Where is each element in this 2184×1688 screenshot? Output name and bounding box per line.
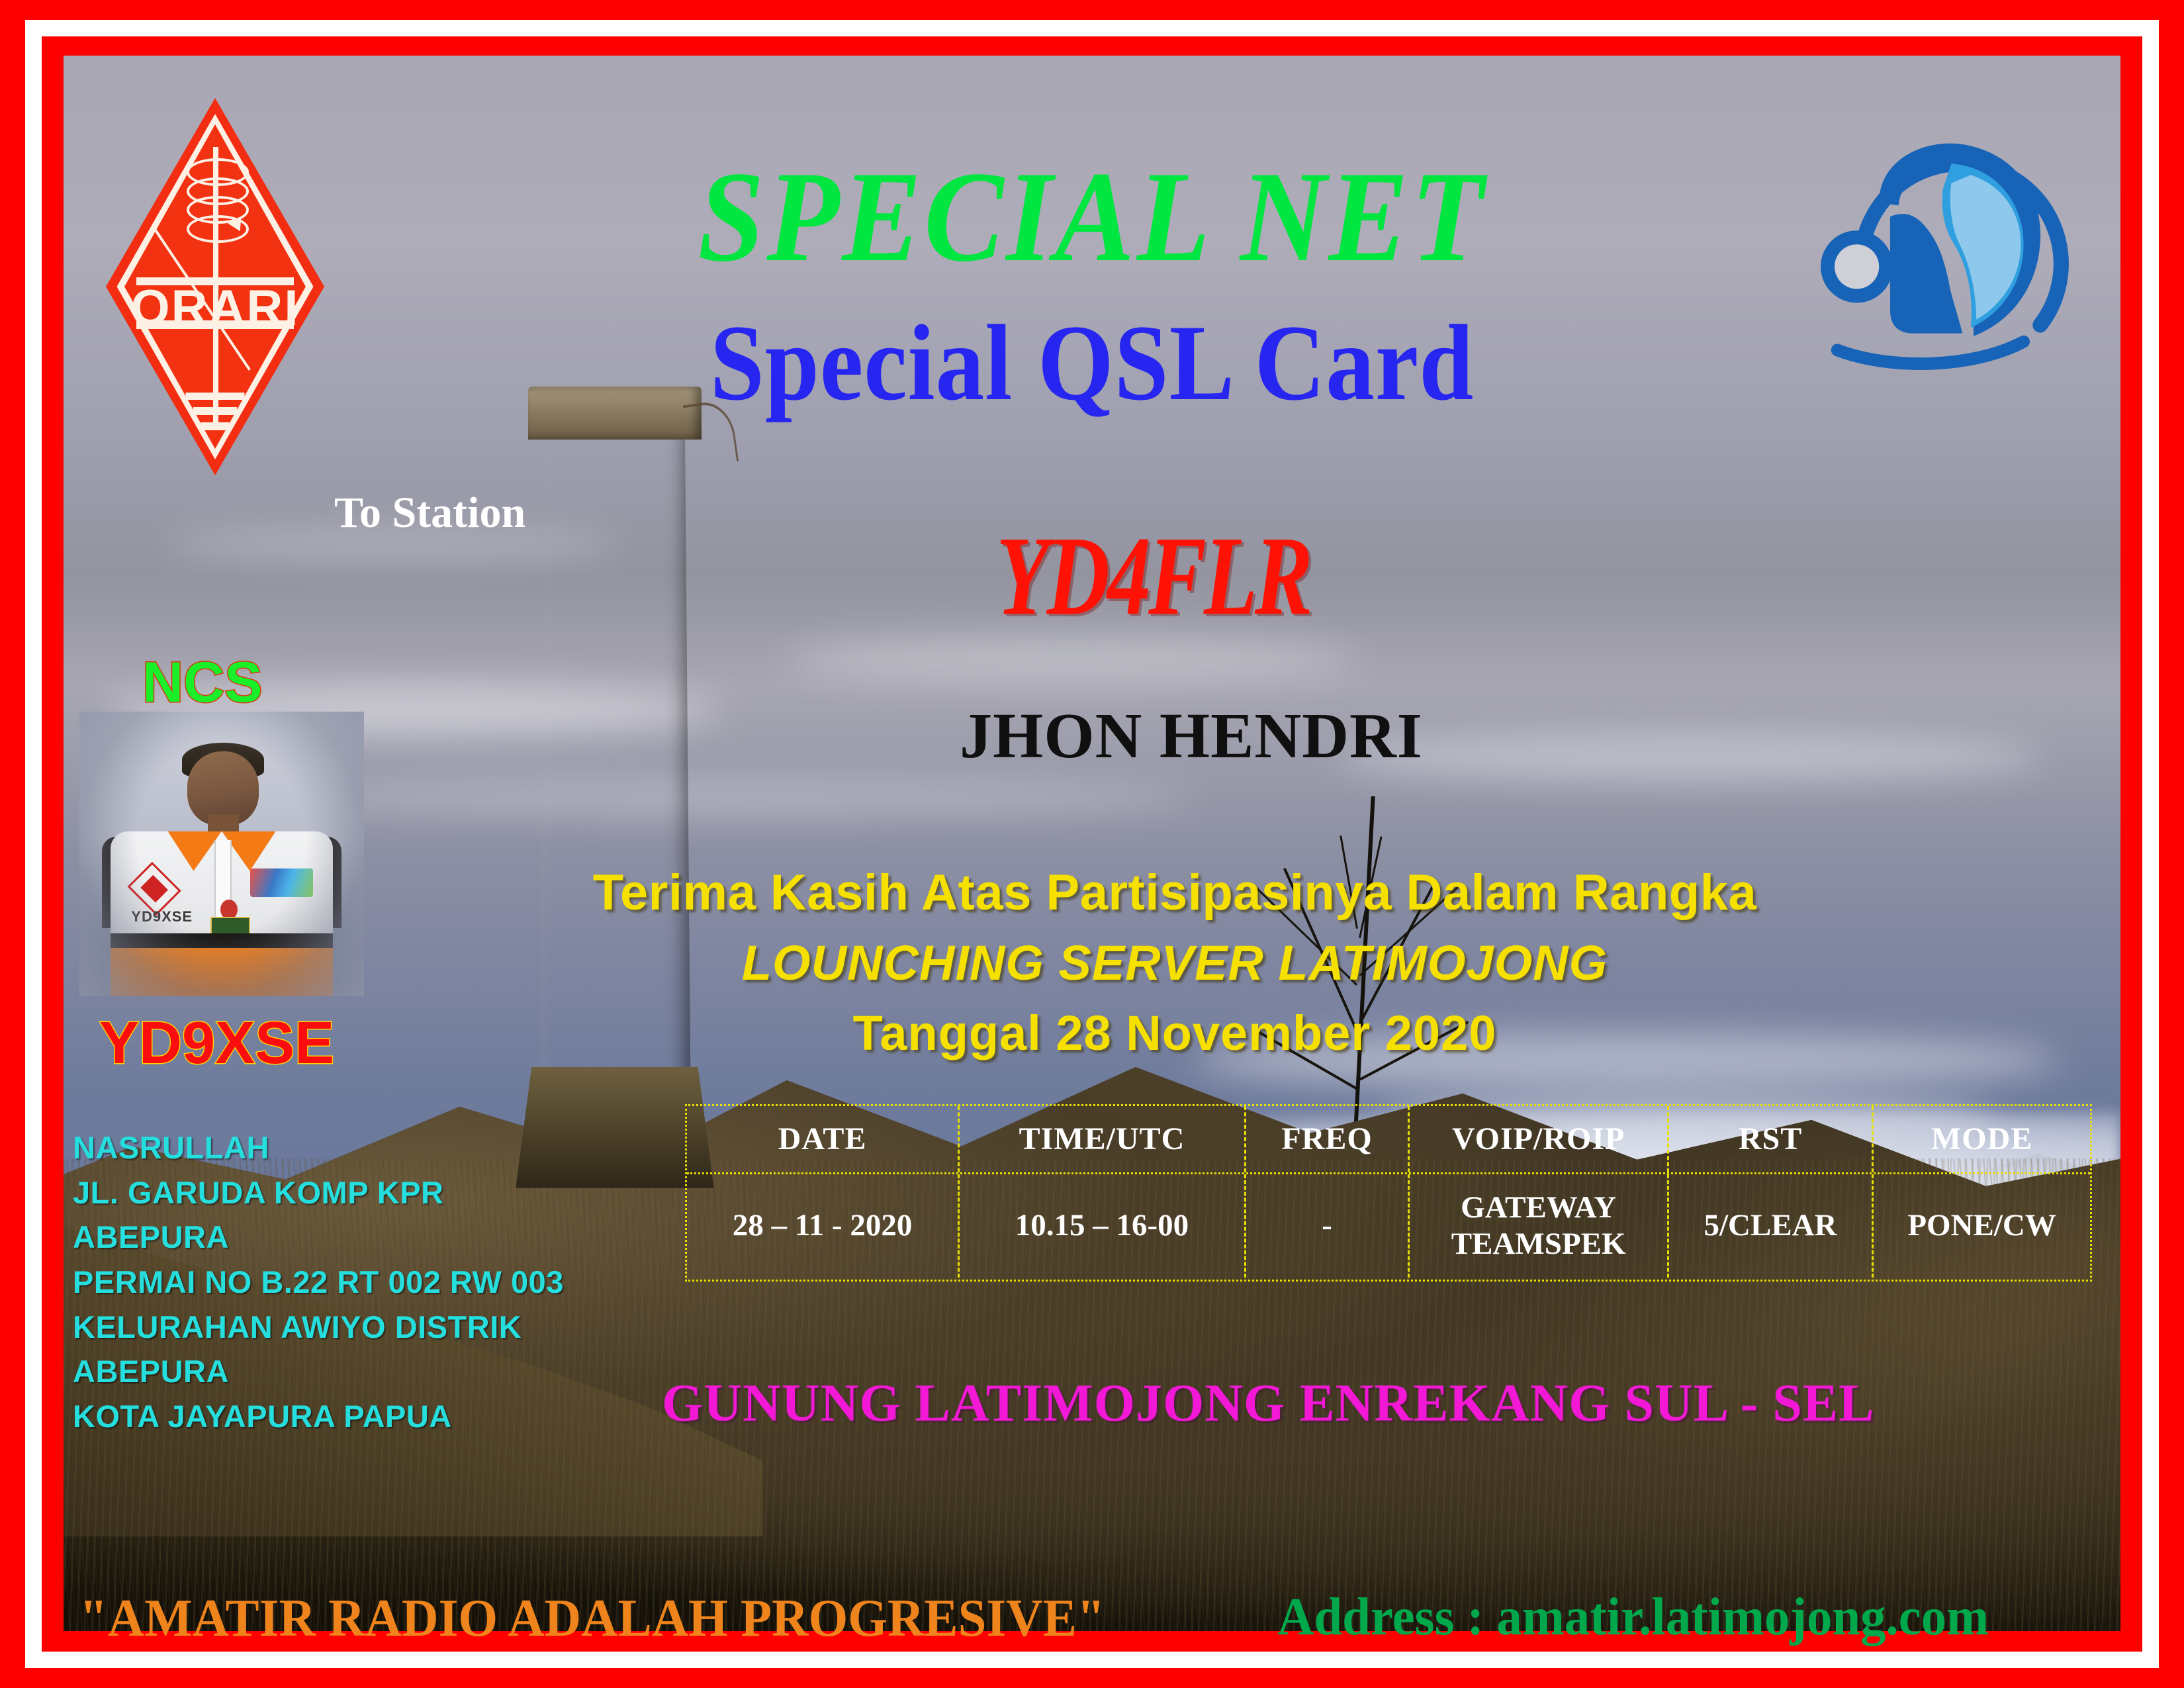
table-header-time: TIME/UTC [960, 1106, 1246, 1172]
website-address: Address : amatir.latimojong.com [1277, 1587, 1989, 1648]
address-line: PERMAI NO B.22 RT 002 RW 003 [73, 1260, 629, 1305]
mailing-address: NASRULLAH JL. GARUDA KOMP KPR ABEPURA PE… [73, 1125, 629, 1439]
table-header-row: DATE TIME/UTC FREQ VOIP/ROIP RST MODE [687, 1106, 2090, 1172]
to-station-label: To Station [334, 488, 525, 538]
table-header-mode: MODE [1874, 1106, 2090, 1172]
address-line: ABEPURA [73, 1215, 629, 1260]
slogan-text: "AMATIR RADIO ADALAH PROGRESIVE" [79, 1589, 1105, 1649]
table-header-rst: RST [1669, 1106, 1874, 1172]
qso-table: DATE TIME/UTC FREQ VOIP/ROIP RST MODE 28… [685, 1104, 2092, 1282]
table-header-freq: FREQ [1246, 1106, 1410, 1172]
address-line: ABEPURA [73, 1349, 629, 1394]
page-title: SPECIAL NET [87, 142, 2097, 291]
ncs-operator-photo: YD9XSE [79, 712, 364, 996]
address-line: JL. GARUDA KOMP KPR [73, 1170, 629, 1215]
table-header-date: DATE [687, 1106, 960, 1172]
table-header-voip: VOIP/ROIP [1410, 1106, 1669, 1172]
cell-freq: - [1246, 1174, 1410, 1278]
cloud-streak [269, 780, 1195, 815]
table-row: 28 – 11 - 2020 10.15 – 16-00 - GATEWAY T… [687, 1172, 2090, 1278]
cell-date: 28 – 11 - 2020 [687, 1174, 960, 1278]
location-line: GUNUNG LATIMOJONG ENREKANG SUL - SEL [662, 1374, 1875, 1434]
cell-voip: GATEWAY TEAMSPEK [1410, 1174, 1669, 1278]
ncs-callsign: YD9XSE [99, 1009, 334, 1078]
cell-time: 10.15 – 16-00 [960, 1174, 1246, 1278]
station-callsign: YD4FLR [996, 511, 1310, 641]
ncs-label: NCS [142, 650, 263, 716]
cell-rst: 5/CLEAR [1669, 1174, 1874, 1278]
address-line: KOTA JAYAPURA PAPUA [73, 1394, 629, 1439]
cloud-streak [784, 639, 1359, 680]
qsl-card: ORARI SPECIAL NET Special QSL Card To St… [0, 0, 2184, 1688]
cell-mode: PONE/CW [1874, 1174, 2090, 1278]
address-line: KELURAHAN AWIYO DISTRIK [73, 1305, 629, 1350]
address-line: NASRULLAH [73, 1125, 629, 1170]
page-subtitle: Special QSL Card [109, 301, 2075, 426]
